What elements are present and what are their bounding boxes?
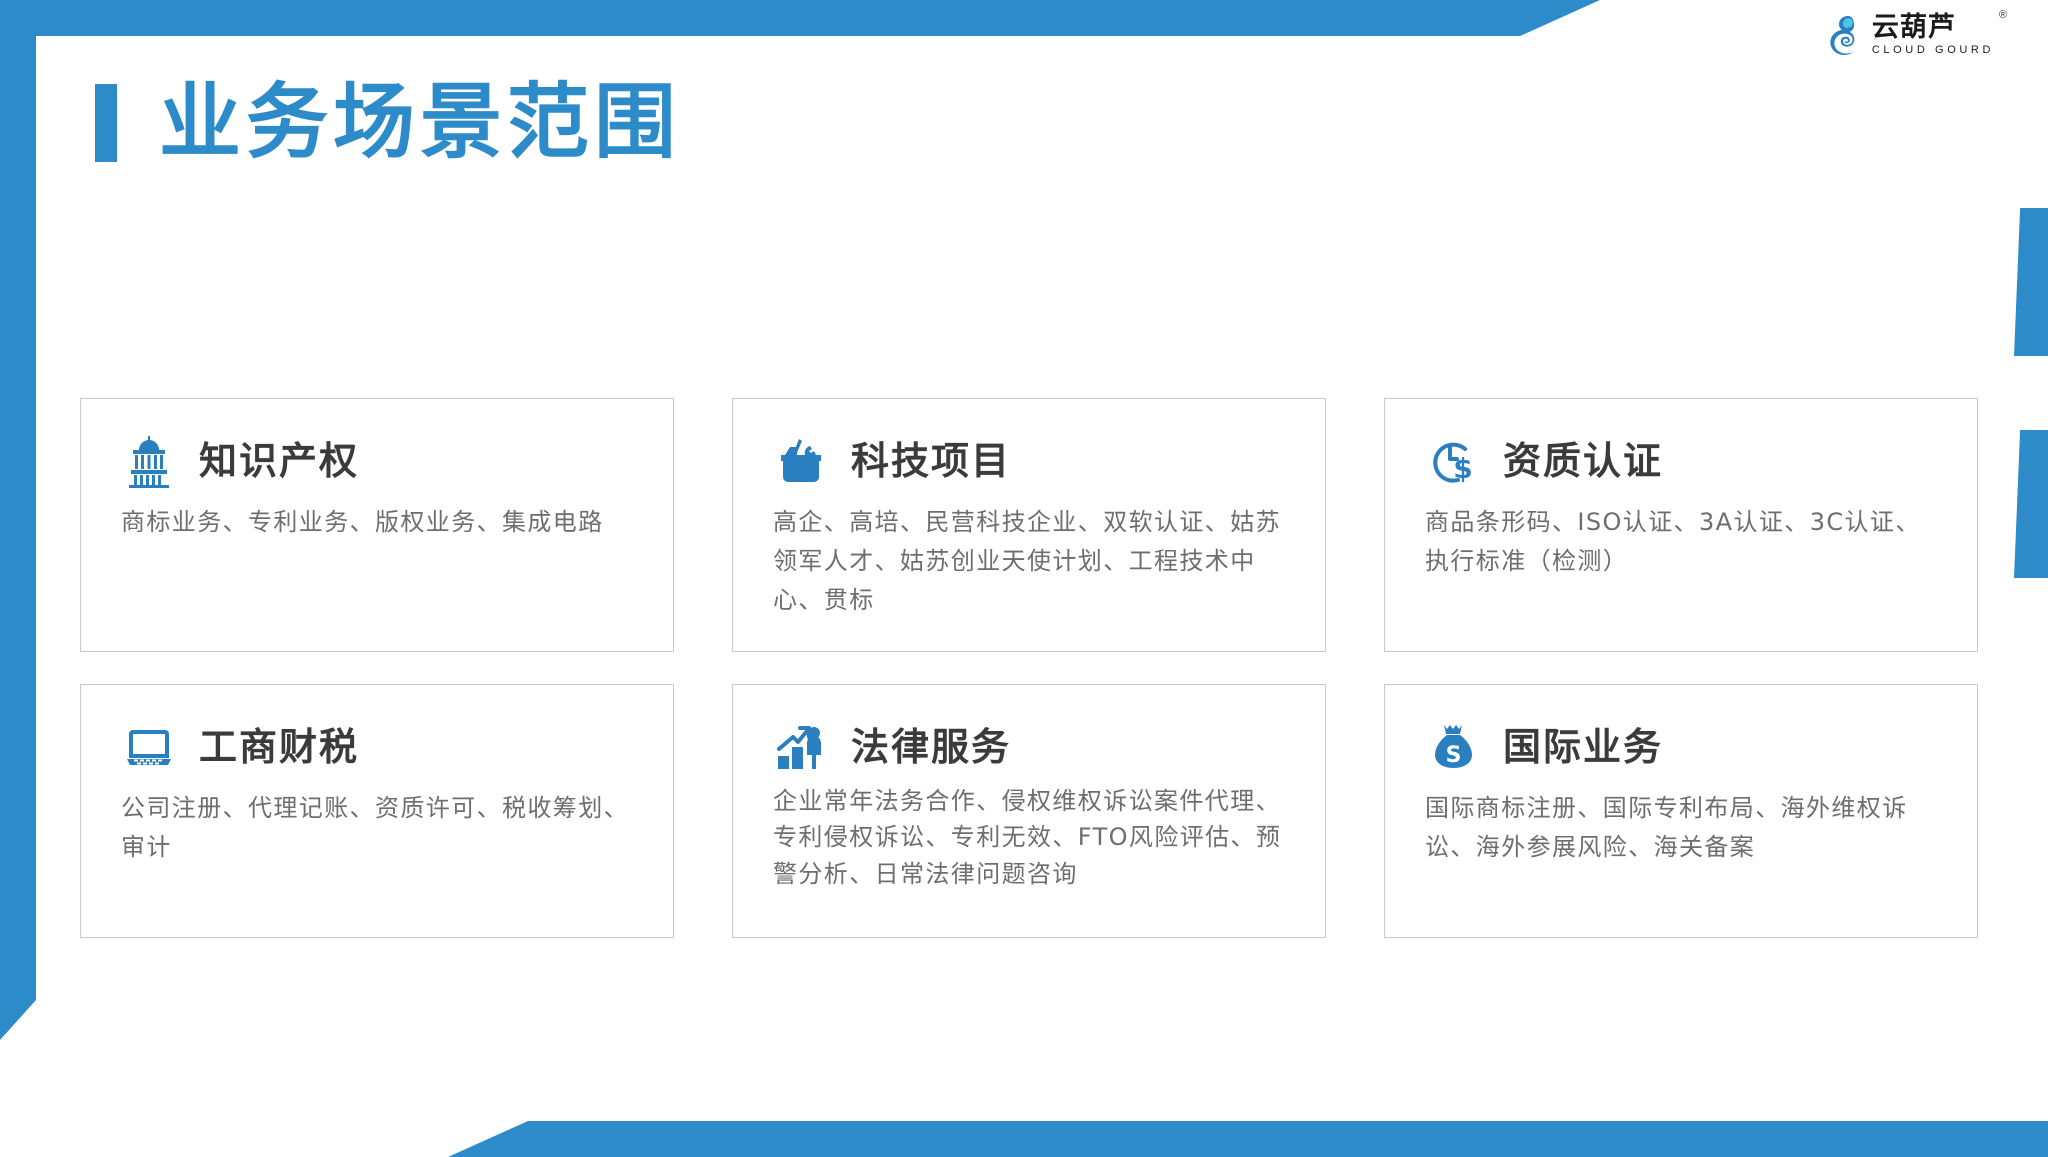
money-bag-icon: S bbox=[1425, 719, 1481, 775]
card-title: 知识产权 bbox=[199, 442, 359, 480]
card-body: 企业常年法务合作、侵权维权诉讼案件代理、专利侵权诉讼、专利无效、FTO风险评估、… bbox=[773, 783, 1287, 892]
slide-canvas: ® 云葫芦 CLOUD GOURD 业务场景范围 bbox=[0, 0, 2048, 1157]
card-body: 商标业务、专利业务、版权业务、集成电路 bbox=[121, 503, 635, 542]
svg-text:S: S bbox=[1446, 743, 1462, 768]
card-header: 科技项目 bbox=[773, 433, 1287, 489]
registered-mark: ® bbox=[1999, 10, 2007, 21]
decorative-right-tab-upper bbox=[2014, 208, 2048, 356]
laptop-icon bbox=[121, 719, 177, 775]
card-body: 公司注册、代理记账、资质许可、税收筹划、审计 bbox=[121, 789, 635, 867]
scenario-card-grid: 知识产权 商标业务、专利业务、版权业务、集成电路 bbox=[80, 398, 1978, 938]
card-legal-services[interactable]: 法律服务 企业常年法务合作、侵权维权诉讼案件代理、专利侵权诉讼、专利无效、FTO… bbox=[732, 684, 1326, 938]
title-accent-bar bbox=[95, 84, 117, 162]
card-title: 国际业务 bbox=[1503, 728, 1663, 766]
brand-logo-text: ® 云葫芦 CLOUD GOURD bbox=[1872, 14, 1994, 56]
toolbox-icon bbox=[773, 433, 829, 489]
brand-logo: ® 云葫芦 CLOUD GOURD bbox=[1822, 14, 1994, 56]
card-header: 工商财税 bbox=[121, 719, 635, 775]
card-body: 商品条形码、ISO认证、3A认证、3C认证、执行标准（检测） bbox=[1425, 503, 1939, 581]
card-header: 法律服务 bbox=[773, 719, 1287, 775]
capitol-building-icon bbox=[121, 433, 177, 489]
card-business-tax[interactable]: 工商财税 公司注册、代理记账、资质许可、税收筹划、审计 bbox=[80, 684, 674, 938]
page-title-row: 业务场景范围 bbox=[95, 82, 681, 164]
card-qualification-certification[interactable]: $ 资质认证 商品条形码、ISO认证、3A认证、3C认证、执行标准（检测） bbox=[1384, 398, 1978, 652]
decorative-right-tab-lower bbox=[2014, 430, 2048, 578]
decorative-top-band bbox=[0, 0, 1600, 36]
clock-dollar-icon: $ bbox=[1425, 433, 1481, 489]
card-intellectual-property[interactable]: 知识产权 商标业务、专利业务、版权业务、集成电路 bbox=[80, 398, 674, 652]
card-title: 工商财税 bbox=[199, 728, 359, 766]
card-title: 资质认证 bbox=[1503, 442, 1663, 480]
card-title: 法律服务 bbox=[851, 728, 1011, 766]
page-title: 业务场景范围 bbox=[159, 82, 681, 164]
card-header: 知识产权 bbox=[121, 433, 635, 489]
card-header: $ 资质认证 bbox=[1425, 433, 1939, 489]
card-body: 国际商标注册、国际专利布局、海外维权诉讼、海外参展风险、海关备案 bbox=[1425, 789, 1939, 867]
card-header: S 国际业务 bbox=[1425, 719, 1939, 775]
growth-chart-person-icon bbox=[773, 719, 829, 775]
card-title: 科技项目 bbox=[851, 442, 1011, 480]
decorative-bottom-band bbox=[448, 1121, 2048, 1157]
card-technology-projects[interactable]: 科技项目 高企、高培、民营科技企业、双软认证、姑苏领军人才、姑苏创业天使计划、工… bbox=[732, 398, 1326, 652]
brand-name-cn: 云葫芦 bbox=[1872, 14, 1994, 41]
cloud-gourd-logo-icon bbox=[1822, 14, 1862, 56]
card-body: 高企、高培、民营科技企业、双软认证、姑苏领军人才、姑苏创业天使计划、工程技术中心… bbox=[773, 503, 1287, 620]
brand-name-en: CLOUD GOURD bbox=[1872, 45, 1994, 56]
svg-text:$: $ bbox=[1453, 452, 1472, 485]
card-international-business[interactable]: S 国际业务 国际商标注册、国际专利布局、海外维权诉讼、海外参展风险、海关备案 bbox=[1384, 684, 1978, 938]
